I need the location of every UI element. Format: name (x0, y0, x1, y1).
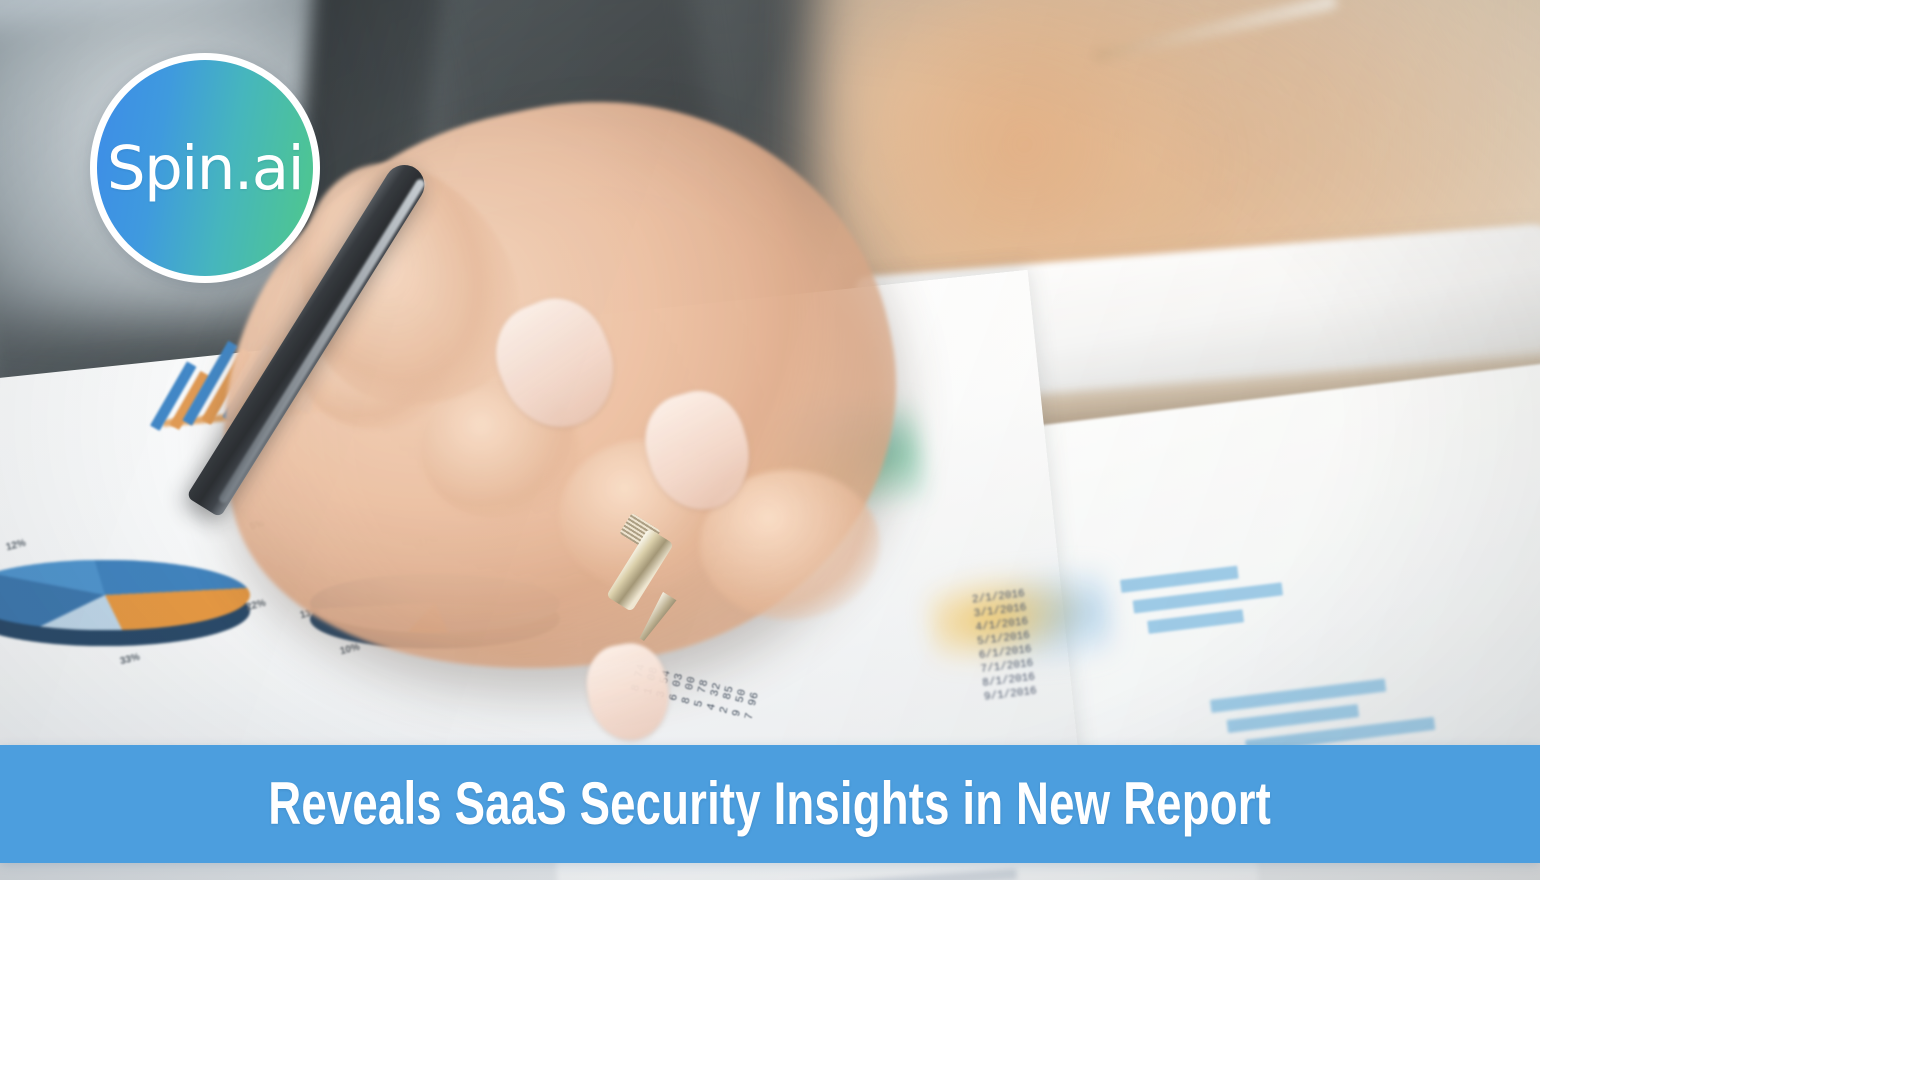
spin-ai-logo[interactable]: Spin.ai (90, 53, 320, 283)
spin-ai-logo-text: Spin.ai (107, 138, 303, 199)
hero-image: 12% 22% 33% 5% 22% 13% 10% 17% 8 74 1 08 (0, 0, 1540, 880)
headline-text: Reveals SaaS Security Insights in New Re… (269, 774, 1272, 834)
pie-chart-left (0, 520, 250, 670)
headline-banner: Reveals SaaS Security Insights in New Re… (0, 745, 1540, 863)
